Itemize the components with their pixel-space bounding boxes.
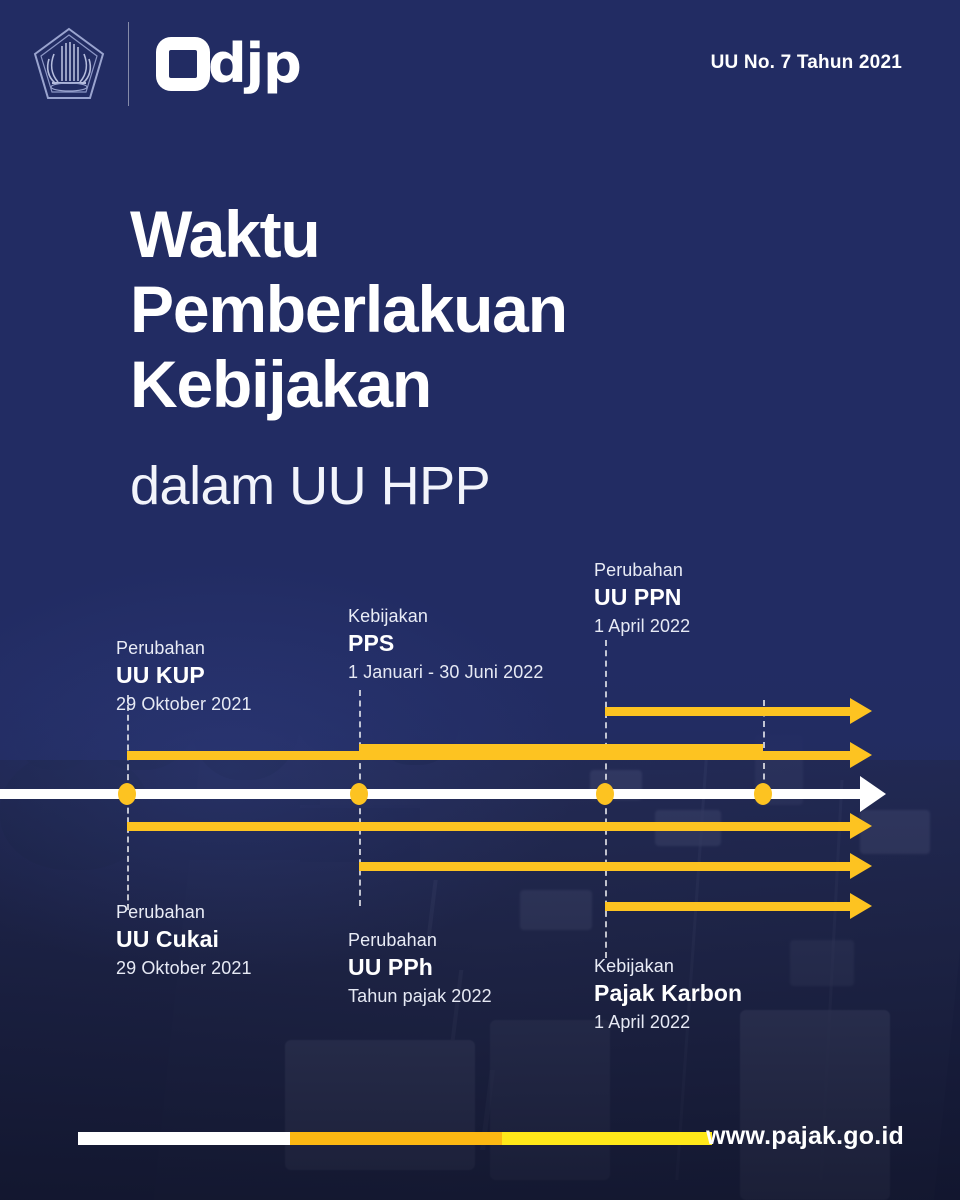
- timeline-node-pps-end: [754, 783, 772, 805]
- arrowhead-pph: [850, 853, 872, 879]
- title-line-3: Kebijakan: [130, 347, 850, 422]
- label-ppn: Perubahan UU PPN 1 April 2022: [594, 558, 690, 639]
- policy-timeline: Perubahan UU PPN 1 April 2022 Kebijakan …: [0, 540, 960, 1060]
- label-cukai-date: 29 Oktober 2021: [116, 955, 252, 981]
- bar-karbon: [605, 902, 854, 911]
- kemenkeu-emblem-icon: [32, 26, 106, 106]
- label-pph-date: Tahun pajak 2022: [348, 983, 492, 1009]
- tick-line-pph: [359, 798, 361, 906]
- footer-bar-white: [78, 1132, 290, 1145]
- label-kup-date: 29 Oktober 2021: [116, 691, 252, 717]
- timeline-node-pps: [350, 783, 368, 805]
- label-ppn-name: UU PPN: [594, 582, 690, 613]
- bar-kup-main: [127, 751, 854, 760]
- label-pps-date: 1 Januari - 30 Juni 2022: [348, 659, 544, 685]
- label-pps-name: PPS: [348, 628, 544, 659]
- label-karbon: Kebijakan Pajak Karbon 1 April 2022: [594, 954, 742, 1035]
- label-karbon-kicker: Kebijakan: [594, 954, 742, 978]
- tick-line-cukai: [127, 798, 129, 910]
- label-cukai: Perubahan UU Cukai 29 Oktober 2021: [116, 900, 252, 981]
- law-reference-tag: UU No. 7 Tahun 2021: [711, 52, 902, 74]
- arrowhead-kup: [850, 742, 872, 768]
- label-pps-kicker: Kebijakan: [348, 604, 544, 628]
- page-title: Waktu Pemberlakuan Kebijakan: [130, 197, 850, 422]
- header-divider: [128, 22, 129, 106]
- footer-bar-orange: [290, 1132, 502, 1145]
- label-karbon-date: 1 April 2022: [594, 1009, 742, 1035]
- label-cukai-kicker: Perubahan: [116, 900, 252, 924]
- arrowhead-cukai: [850, 813, 872, 839]
- arrowhead-ppn: [850, 698, 872, 724]
- label-ppn-date: 1 April 2022: [594, 613, 690, 639]
- timeline-axis-arrow: [860, 776, 886, 812]
- footer-bar-yellow: [502, 1132, 712, 1145]
- page-subtitle: dalam UU HPP: [130, 455, 490, 517]
- label-pph-name: UU PPh: [348, 952, 492, 983]
- tick-line-pps: [359, 690, 361, 790]
- bar-pph: [359, 862, 854, 871]
- label-pph: Perubahan UU PPh Tahun pajak 2022: [348, 928, 492, 1009]
- djp-logo: djp: [156, 33, 301, 95]
- timeline-node-kup: [118, 783, 136, 805]
- djp-wordmark: djp: [208, 37, 301, 91]
- title-line-1: Waktu: [130, 197, 850, 272]
- label-karbon-name: Pajak Karbon: [594, 978, 742, 1009]
- label-kup: Perubahan UU KUP 29 Oktober 2021: [116, 636, 252, 717]
- label-pps: Kebijakan PPS 1 Januari - 30 Juni 2022: [348, 604, 544, 685]
- footer: www.pajak.go.id: [0, 1080, 960, 1200]
- title-line-2: Pemberlakuan: [130, 272, 850, 347]
- footer-website-url[interactable]: www.pajak.go.id: [706, 1122, 904, 1151]
- label-ppn-kicker: Perubahan: [594, 558, 690, 582]
- bar-ppn: [605, 707, 854, 716]
- label-kup-name: UU KUP: [116, 660, 252, 691]
- label-cukai-name: UU Cukai: [116, 924, 252, 955]
- infographic-poster: djp UU No. 7 Tahun 2021 Waktu Pemberlaku…: [0, 0, 960, 1200]
- label-pph-kicker: Perubahan: [348, 928, 492, 952]
- label-kup-kicker: Perubahan: [116, 636, 252, 660]
- bar-cukai: [127, 822, 854, 831]
- header: djp UU No. 7 Tahun 2021: [0, 0, 960, 140]
- timeline-node-ppn: [596, 783, 614, 805]
- djp-mark-icon: [156, 37, 210, 91]
- arrowhead-karbon: [850, 893, 872, 919]
